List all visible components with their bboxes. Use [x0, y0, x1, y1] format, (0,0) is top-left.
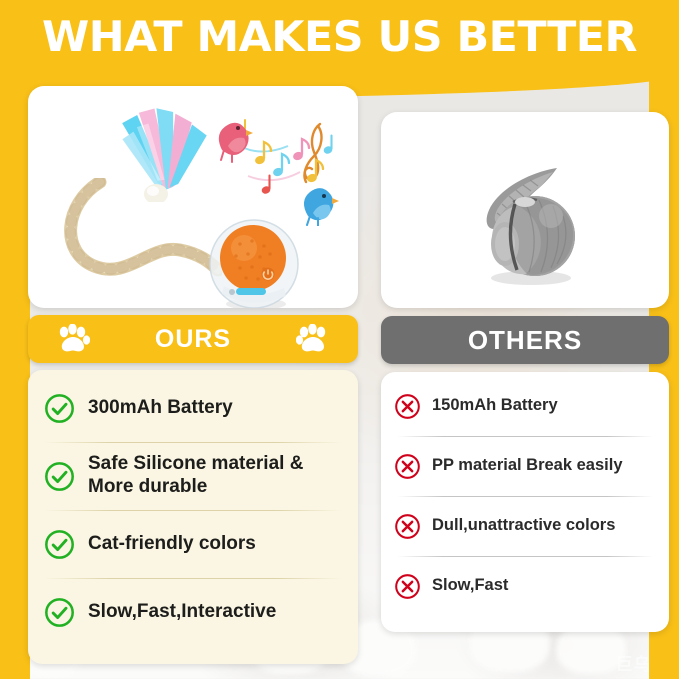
left-yellow-rail — [0, 60, 30, 679]
paw-print-icon — [56, 324, 90, 354]
check-circle-icon — [44, 461, 75, 492]
feature-text: Safe Silicone material & More durable — [88, 453, 344, 499]
music-notes-illustration — [208, 106, 348, 226]
cross-circle-icon — [394, 513, 421, 540]
feature-list-ours: 300mAh Battery Safe Silicone material & … — [28, 370, 358, 664]
column-others: OTHERS 150mAh Battery PP material Break … — [381, 112, 669, 632]
cross-circle-icon — [394, 573, 421, 600]
check-circle-icon — [44, 529, 75, 560]
banner-label-others: OTHERS — [468, 325, 582, 356]
cross-circle-icon — [394, 393, 421, 420]
feature-text: Slow,Fast — [432, 576, 508, 596]
toy-illustration-ours — [28, 86, 358, 308]
cross-circle-icon — [394, 453, 421, 480]
list-item: Slow,Fast,Interactive — [28, 578, 358, 646]
banner-others: OTHERS — [381, 316, 669, 364]
rope-cord — [54, 178, 222, 290]
list-item: 300mAh Battery — [28, 374, 358, 442]
product-image-card-others — [381, 112, 669, 308]
list-item: Slow,Fast — [381, 556, 669, 616]
column-ours: OURS 300mAh Battery — [28, 86, 358, 664]
product-image-card-ours — [28, 86, 358, 308]
check-circle-icon — [44, 597, 75, 628]
feature-text: 150mAh Battery — [432, 396, 558, 416]
comparison-infographic: 巨乌AI WHAT MAKES US BETTER — [0, 0, 679, 679]
feature-list-others: 150mAh Battery PP material Break easily … — [381, 372, 669, 632]
list-item: Dull,unattractive colors — [381, 496, 669, 556]
page-title: WHAT MAKES US BETTER — [0, 0, 679, 74]
banner-label-ours: OURS — [155, 325, 231, 354]
feature-text: Dull,unattractive colors — [432, 516, 615, 536]
feature-text: PP material Break easily — [432, 456, 623, 476]
feature-text: Slow,Fast,Interactive — [88, 601, 276, 624]
list-item: Cat-friendly colors — [28, 510, 358, 578]
gray-ball-product — [453, 152, 603, 288]
list-item: 150mAh Battery — [381, 376, 669, 436]
feature-text: 300mAh Battery — [88, 397, 233, 420]
pink-bird — [219, 123, 253, 162]
feature-text: Cat-friendly colors — [88, 533, 256, 556]
orange-ball-product — [206, 214, 302, 308]
banner-ours: OURS — [28, 315, 358, 363]
check-circle-icon — [44, 393, 75, 424]
blue-bird — [304, 188, 339, 226]
list-item: Safe Silicone material & More durable — [28, 442, 358, 510]
paw-print-icon — [296, 324, 330, 354]
list-item: PP material Break easily — [381, 436, 669, 496]
